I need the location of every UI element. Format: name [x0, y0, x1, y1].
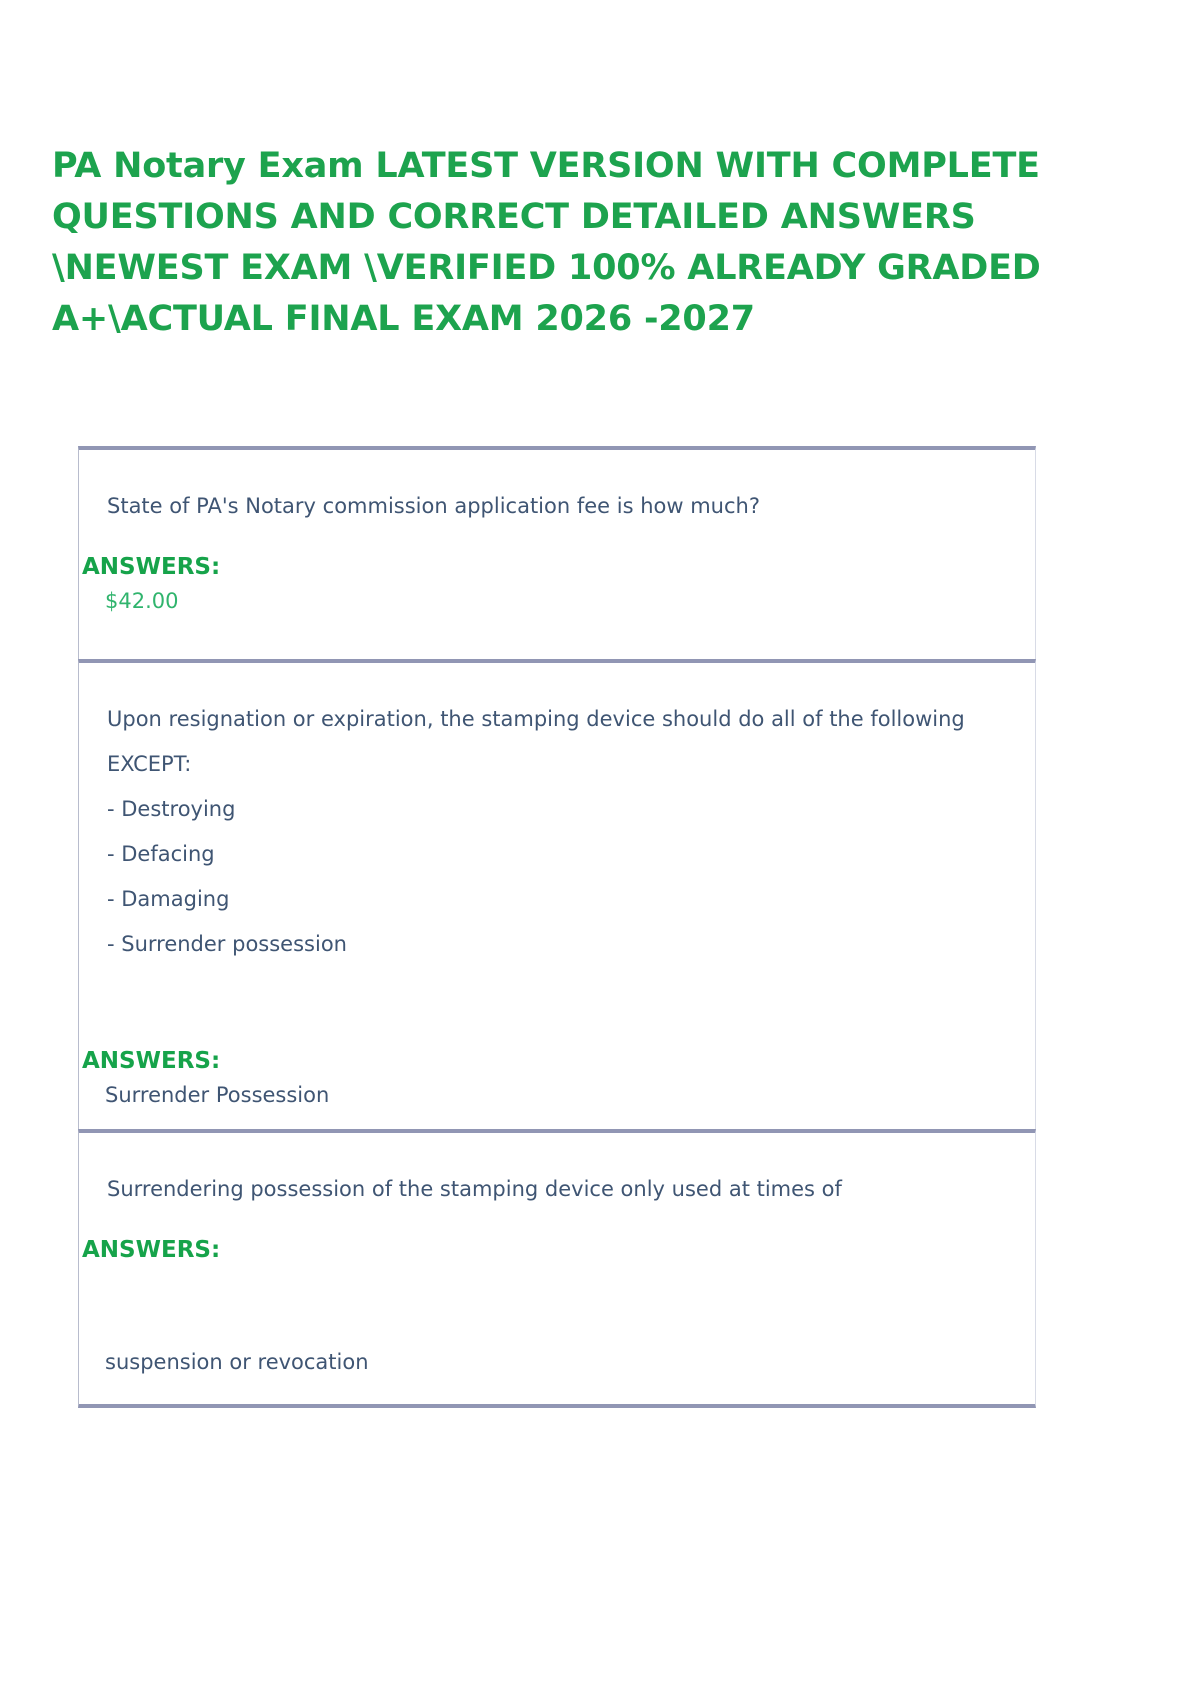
qa-card-3: Surrendering possession of the stamping … [78, 1129, 1036, 1408]
qa-card-2: Upon resignation or expiration, the stam… [78, 659, 1036, 1129]
answers-label: ANSWERS: [79, 1045, 1035, 1077]
list-item: - Defacing [107, 832, 1007, 877]
qa-card-stack: State of PA's Notary commission applicat… [78, 446, 1036, 1408]
answers-label: ANSWERS: [79, 551, 1035, 583]
document-page: PA Notary Exam LATEST VERSION WITH COMPL… [0, 0, 1200, 1700]
spacer [79, 1212, 1035, 1234]
choice-list: - Destroying - Defacing - Damaging - Sur… [79, 787, 1035, 967]
spacer [79, 1380, 1035, 1394]
page-title: PA Notary Exam LATEST VERSION WITH COMPL… [52, 141, 1042, 345]
answer-text: suspension or revocation [79, 1344, 1035, 1380]
spacer [79, 967, 1035, 1045]
answer-text: Surrender Possession [79, 1077, 1035, 1113]
list-item: - Surrender possession [107, 922, 1007, 967]
spacer [79, 1266, 1035, 1344]
question-text: Upon resignation or expiration, the stam… [79, 697, 1035, 787]
spacer [79, 529, 1035, 551]
list-item: - Damaging [107, 877, 1007, 922]
qa-card-1: State of PA's Notary commission applicat… [78, 446, 1036, 659]
spacer [79, 619, 1035, 649]
spacer [79, 1113, 1035, 1119]
question-text: State of PA's Notary commission applicat… [79, 484, 1035, 529]
answer-text: $42.00 [79, 583, 1035, 619]
answers-label: ANSWERS: [79, 1234, 1035, 1266]
list-item: - Destroying [107, 787, 1007, 832]
question-text: Surrendering possession of the stamping … [79, 1167, 1035, 1212]
